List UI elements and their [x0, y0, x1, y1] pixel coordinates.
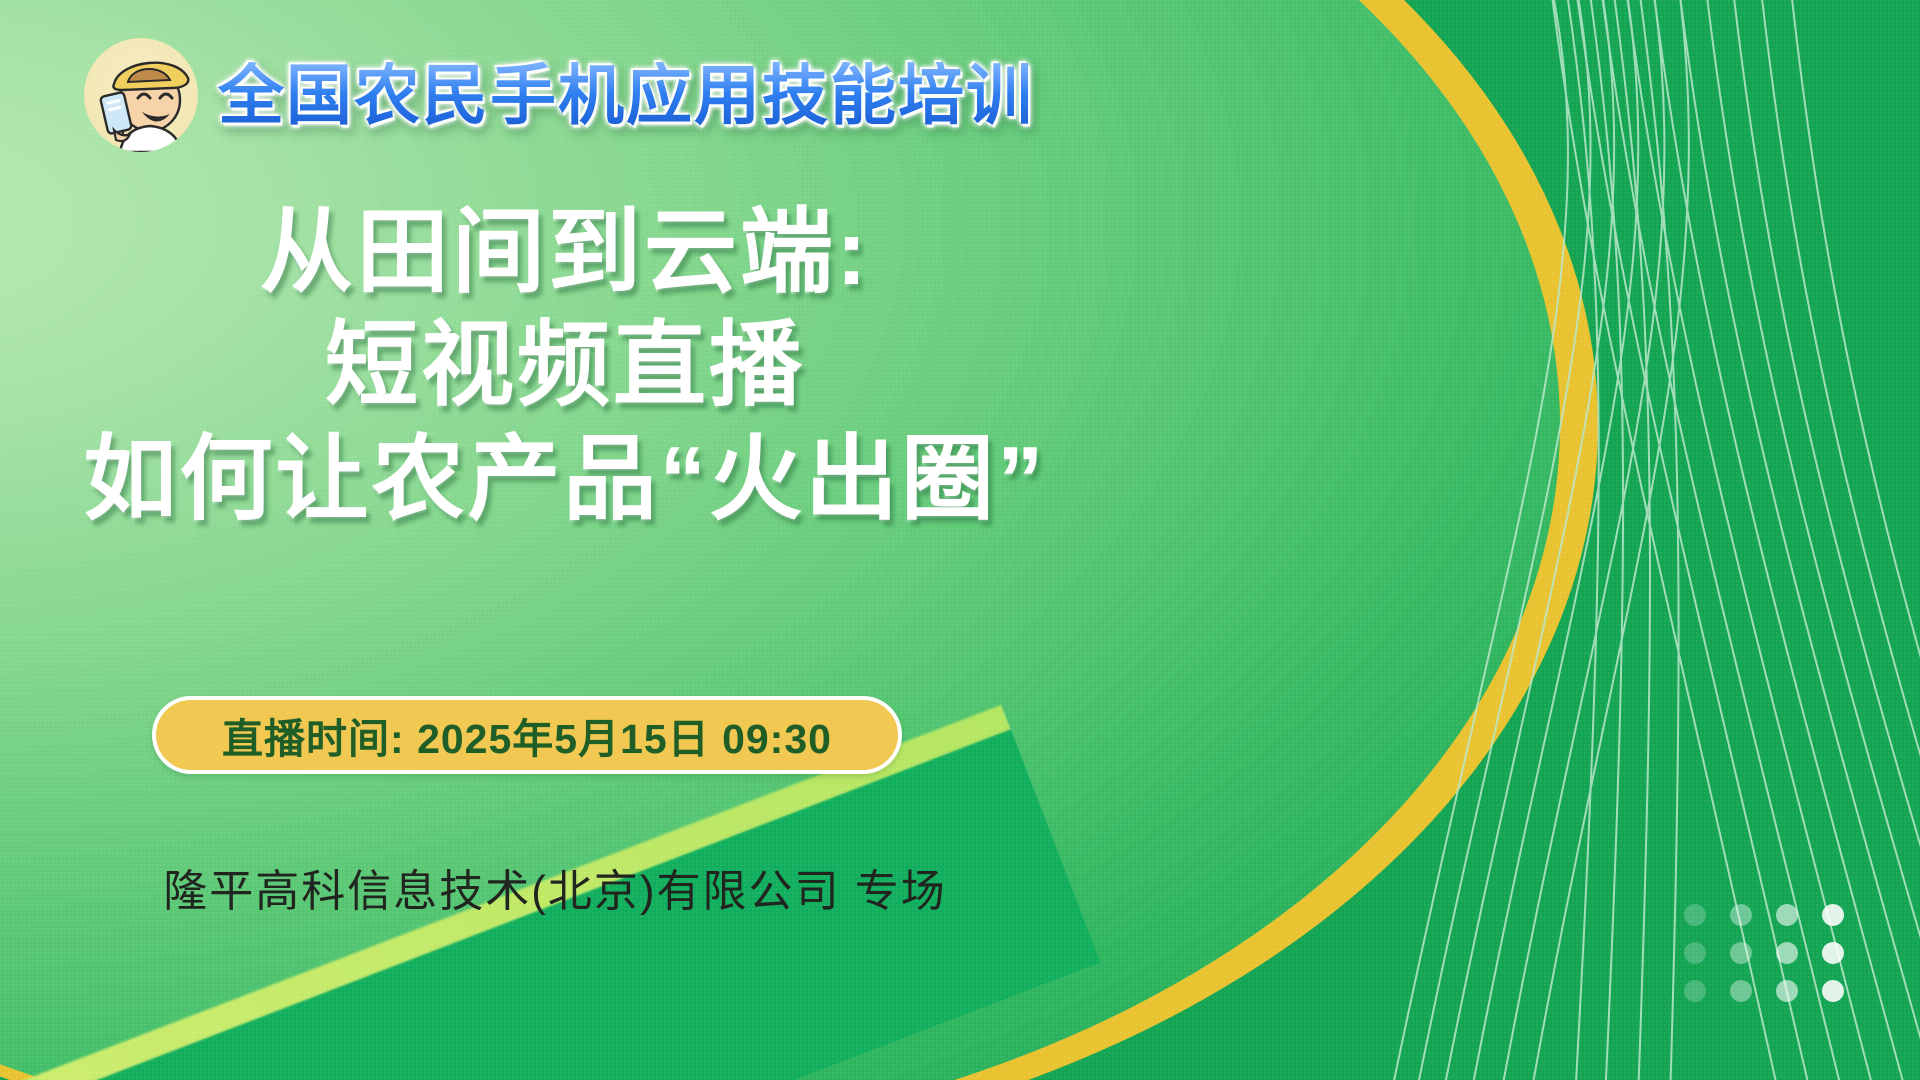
main-title-line-1: 从田间到云端: [0, 196, 1130, 309]
footer-company: 隆平高科信息技术(北京)有限公司 专场 [0, 855, 1110, 919]
schedule-badge-text: 直播时间: 2025年5月15日 09:30 [222, 705, 832, 765]
page-title: 全国农民手机应用技能培训 [218, 62, 1034, 128]
live-stream-poster: 全国农民手机应用技能培训 从田间到云端: 短视频直播 如何让农产品“火出圈” 直… [0, 0, 1920, 1080]
main-title-line-3: 如何让农产品“火出圈” [0, 423, 1130, 536]
poster-header: 全国农民手机应用技能培训 [84, 38, 1034, 152]
schedule-badge: 直播时间: 2025年5月15日 09:30 [152, 696, 902, 774]
footer-company-text: 隆平高科信息技术(北京)有限公司 专场 [0, 855, 1110, 919]
poster-content: 全国农民手机应用技能培训 从田间到云端: 短视频直播 如何让农产品“火出圈” 直… [0, 0, 1920, 1080]
main-title-block: 从田间到云端: 短视频直播 如何让农产品“火出圈” [0, 196, 1130, 536]
farmer-with-phone-icon [84, 38, 198, 152]
main-title-line-2: 短视频直播 [0, 309, 1130, 422]
